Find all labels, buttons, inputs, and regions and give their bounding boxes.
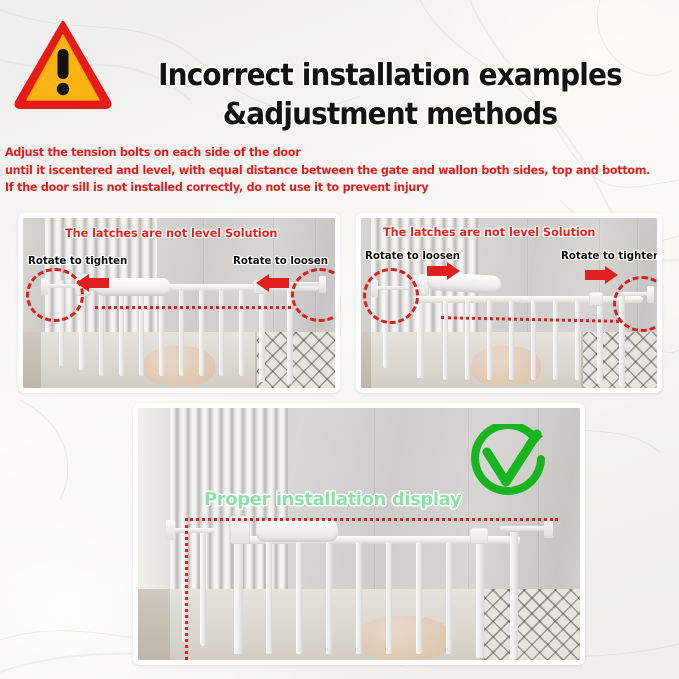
arrow-left-icon [75,274,111,292]
panel-top-left-photo: The latches are not level Solution Rotat… [23,218,335,388]
level-reference-line [95,306,291,309]
arrow-right-icon [425,262,461,280]
panel-top-right-title: The latches are not level Solution [383,226,595,239]
level-reference-line [185,518,558,521]
panel-top-right-label-left: Rotate to loosen [365,251,460,262]
arrow-right-icon [583,266,619,284]
marker-circle-left [363,268,419,324]
instruction-block: Adjust the tension bolts on each side of… [5,144,677,197]
instruction-line-1: Adjust the tension bolts on each side of… [5,144,650,162]
warning-triangle-icon [14,18,112,110]
panel-top-left-label-right: Rotate to loosen [233,256,328,267]
page-root: Incorrect installation examples &adjustm… [0,0,679,679]
panel-top-left-title: The latches are not level Solution [65,227,277,240]
page-title: Incorrect installation examples &adjustm… [131,56,648,134]
instruction-line-2: until it iscentered and level, with equa… [5,162,650,180]
proper-installation-label: Proper installation display [204,489,461,510]
panel-bottom-photo: Proper installation display [138,408,580,660]
panel-bottom: Proper installation display [133,403,585,665]
vertical-reference-line [185,518,188,660]
panel-top-left-label-left: Rotate to tighten [28,256,127,267]
green-check-circle-icon [465,424,547,502]
panel-top-right-label-right: Rotate to tighten [561,251,657,262]
panel-top-right: The latches are not level Solution Rotat… [356,213,662,393]
instruction-line-3: If the door sill is not installed correc… [5,179,650,197]
panel-top-right-photo: The latches are not level Solution Rotat… [361,218,657,388]
arrow-left-icon [255,274,291,292]
panel-top-left: The latches are not level Solution Rotat… [18,213,340,393]
